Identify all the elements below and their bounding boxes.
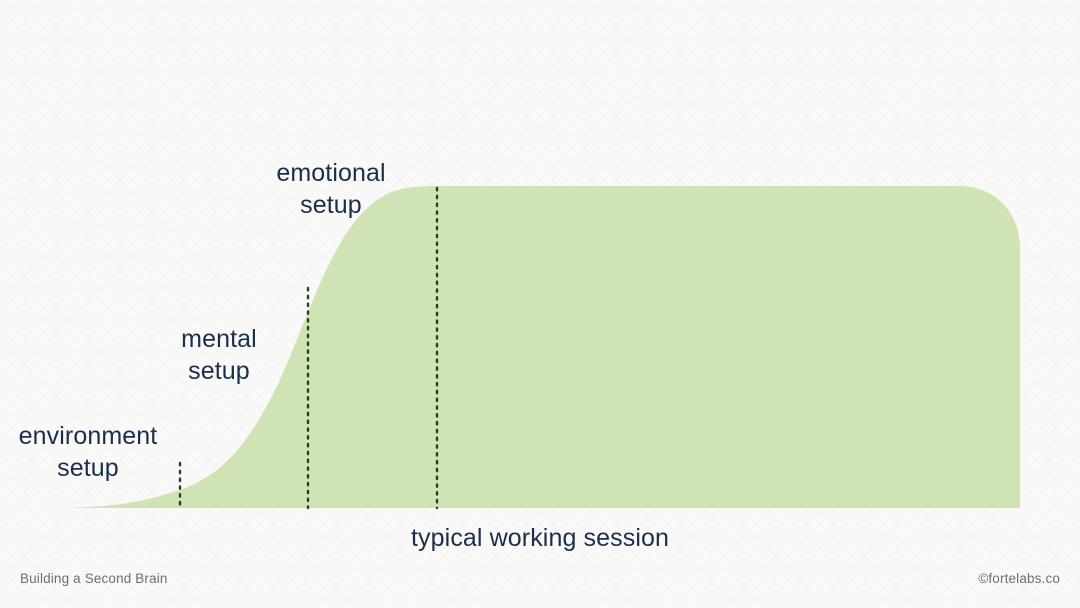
area-chart <box>0 0 1080 608</box>
footer-book-title: Building a Second Brain <box>20 571 168 586</box>
footer-copyright: ©fortelabs.co <box>978 571 1060 586</box>
x-axis-caption: typical working session <box>0 524 1080 553</box>
slide-canvas: environment setup mental setup emotional… <box>0 0 1080 608</box>
phase-label-emotional-setup: emotional setup <box>253 158 409 221</box>
phase-label-mental-line1: mental <box>155 324 283 356</box>
phase-label-mental-line2: setup <box>155 356 283 388</box>
phase-label-environment-line1: environment <box>8 421 168 453</box>
phase-label-environment-setup: environment setup <box>8 421 168 484</box>
phase-label-emotional-line2: setup <box>253 190 409 222</box>
phase-label-mental-setup: mental setup <box>155 324 283 387</box>
phase-label-emotional-line1: emotional <box>253 158 409 190</box>
phase-label-environment-line2: setup <box>8 453 168 485</box>
